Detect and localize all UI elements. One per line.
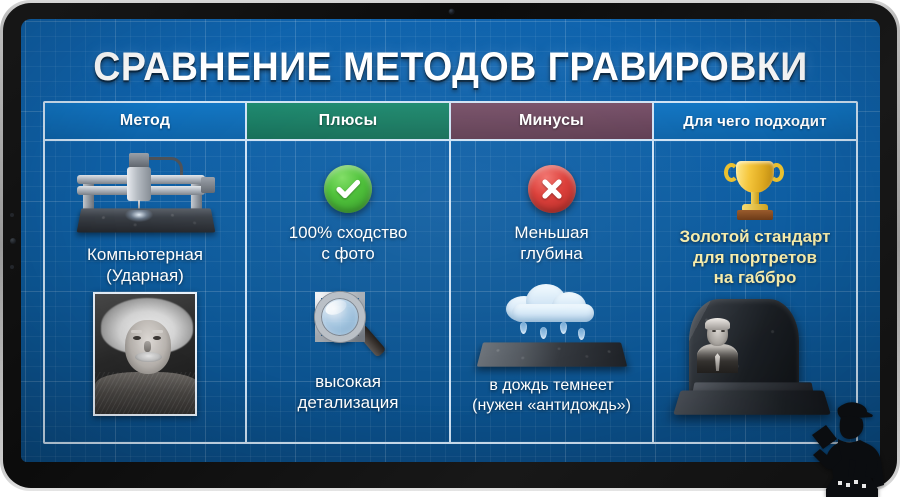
- rain-cloud-on-granite-icon: [476, 282, 628, 374]
- tablet-screen: СРАВНЕНИЕ МЕТОДОВ ГРАВИРОВКИ Метод Плюсы…: [21, 19, 880, 462]
- pros-text-1: 100% сходство с фото: [289, 223, 408, 264]
- column-header-cons: Минусы: [451, 103, 654, 139]
- tablet-device: СРАВНЕНИЕ МЕТОДОВ ГРАВИРОВКИ Метод Плюсы…: [0, 0, 900, 491]
- table-header-row: Метод Плюсы Минусы Для чего подходит: [45, 103, 856, 141]
- sensor-dot-middle-icon: [10, 238, 16, 244]
- sensor-dot-bottom-icon: [10, 265, 14, 269]
- magnifying-glass-icon: [311, 290, 385, 364]
- red-cross-icon: [528, 165, 576, 213]
- method-label: Компьютерная (Ударная): [87, 245, 203, 286]
- front-camera-icon: [449, 9, 454, 14]
- cell-best-for: Золотой стандарт для портретов на габбро: [654, 141, 856, 442]
- page-title: СРАВНЕНИЕ МЕТОДОВ ГРАВИРОВКИ: [47, 45, 854, 90]
- cell-cons: Меньшая глубина в дождь темнеет (нужен «…: [451, 141, 654, 442]
- granite-monument-with-portrait: [671, 299, 839, 441]
- table-body: Компьютерная (Ударная): [45, 141, 856, 442]
- gold-trophy-icon: [722, 159, 788, 223]
- pros-text-2: высокая детализация: [298, 372, 399, 413]
- cons-text-1: Меньшая глубина: [514, 223, 588, 264]
- cnc-engraving-machine-icon: [65, 153, 225, 241]
- cell-method: Компьютерная (Ударная): [45, 141, 247, 442]
- comparison-table: Метод Плюсы Минусы Для чего подходит: [43, 101, 858, 444]
- green-check-icon: [324, 165, 372, 213]
- best-for-text: Золотой стандарт для портретов на габбро: [679, 227, 830, 289]
- cell-pros: 100% сходство с фото высокая детализация: [247, 141, 451, 442]
- column-header-best-for: Для чего подходит: [654, 103, 856, 139]
- sensor-dot-top-icon: [10, 213, 14, 217]
- einstein-engraved-portrait: [93, 292, 197, 416]
- column-header-method: Метод: [45, 103, 247, 139]
- column-header-pros: Плюсы: [247, 103, 451, 139]
- cons-text-2: в дождь темнеет (нужен «антидождь»): [472, 376, 631, 415]
